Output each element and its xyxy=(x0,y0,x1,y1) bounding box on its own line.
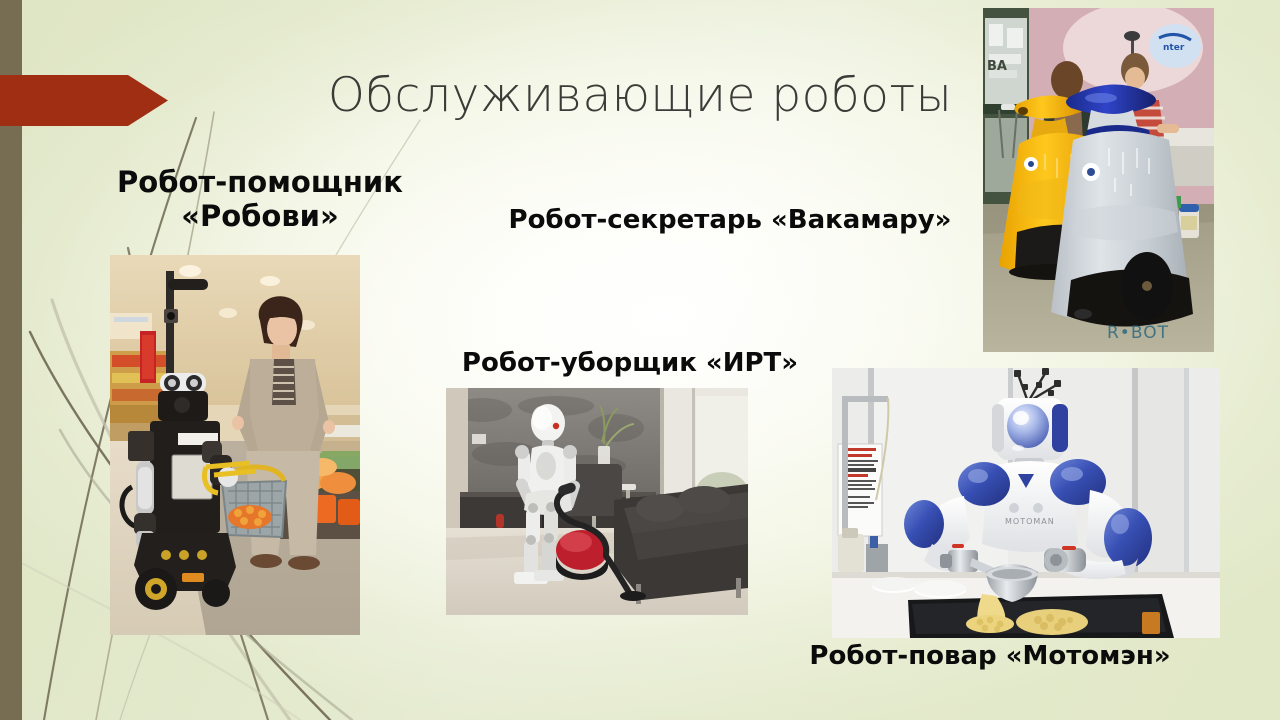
caption-robovie: Робот-помощник «Робови» xyxy=(60,165,460,233)
photo-motoman: MOTOMAN xyxy=(832,368,1220,638)
svg-text:BA: BA xyxy=(987,59,1007,74)
motoman-brand-text: MOTOMAN xyxy=(1005,517,1055,526)
photo-irt-art xyxy=(446,388,748,615)
caption-motoman: Робот-повар «Мотомэн» xyxy=(760,641,1220,672)
page-title: Обслуживающие роботы xyxy=(190,68,1090,123)
photo-robovie-art xyxy=(110,255,360,635)
photo-robovie xyxy=(110,255,360,635)
photo-wakamaru: nter BA xyxy=(983,8,1214,352)
presentation-slide: Обслуживающие роботы xyxy=(0,0,1280,720)
caption-wakamaru: Робот-секретарь «Вакамару» xyxy=(455,205,1005,236)
photo-motoman-art: MOTOMAN xyxy=(832,368,1220,638)
photo-wakamaru-art: nter BA xyxy=(983,8,1214,352)
photo-irt xyxy=(446,388,748,615)
caption-irt: Робот-уборщик «ИРТ» xyxy=(420,348,840,379)
photo-wakamaru-watermark: R•BOT xyxy=(1107,323,1169,343)
svg-text:nter: nter xyxy=(1163,43,1185,53)
